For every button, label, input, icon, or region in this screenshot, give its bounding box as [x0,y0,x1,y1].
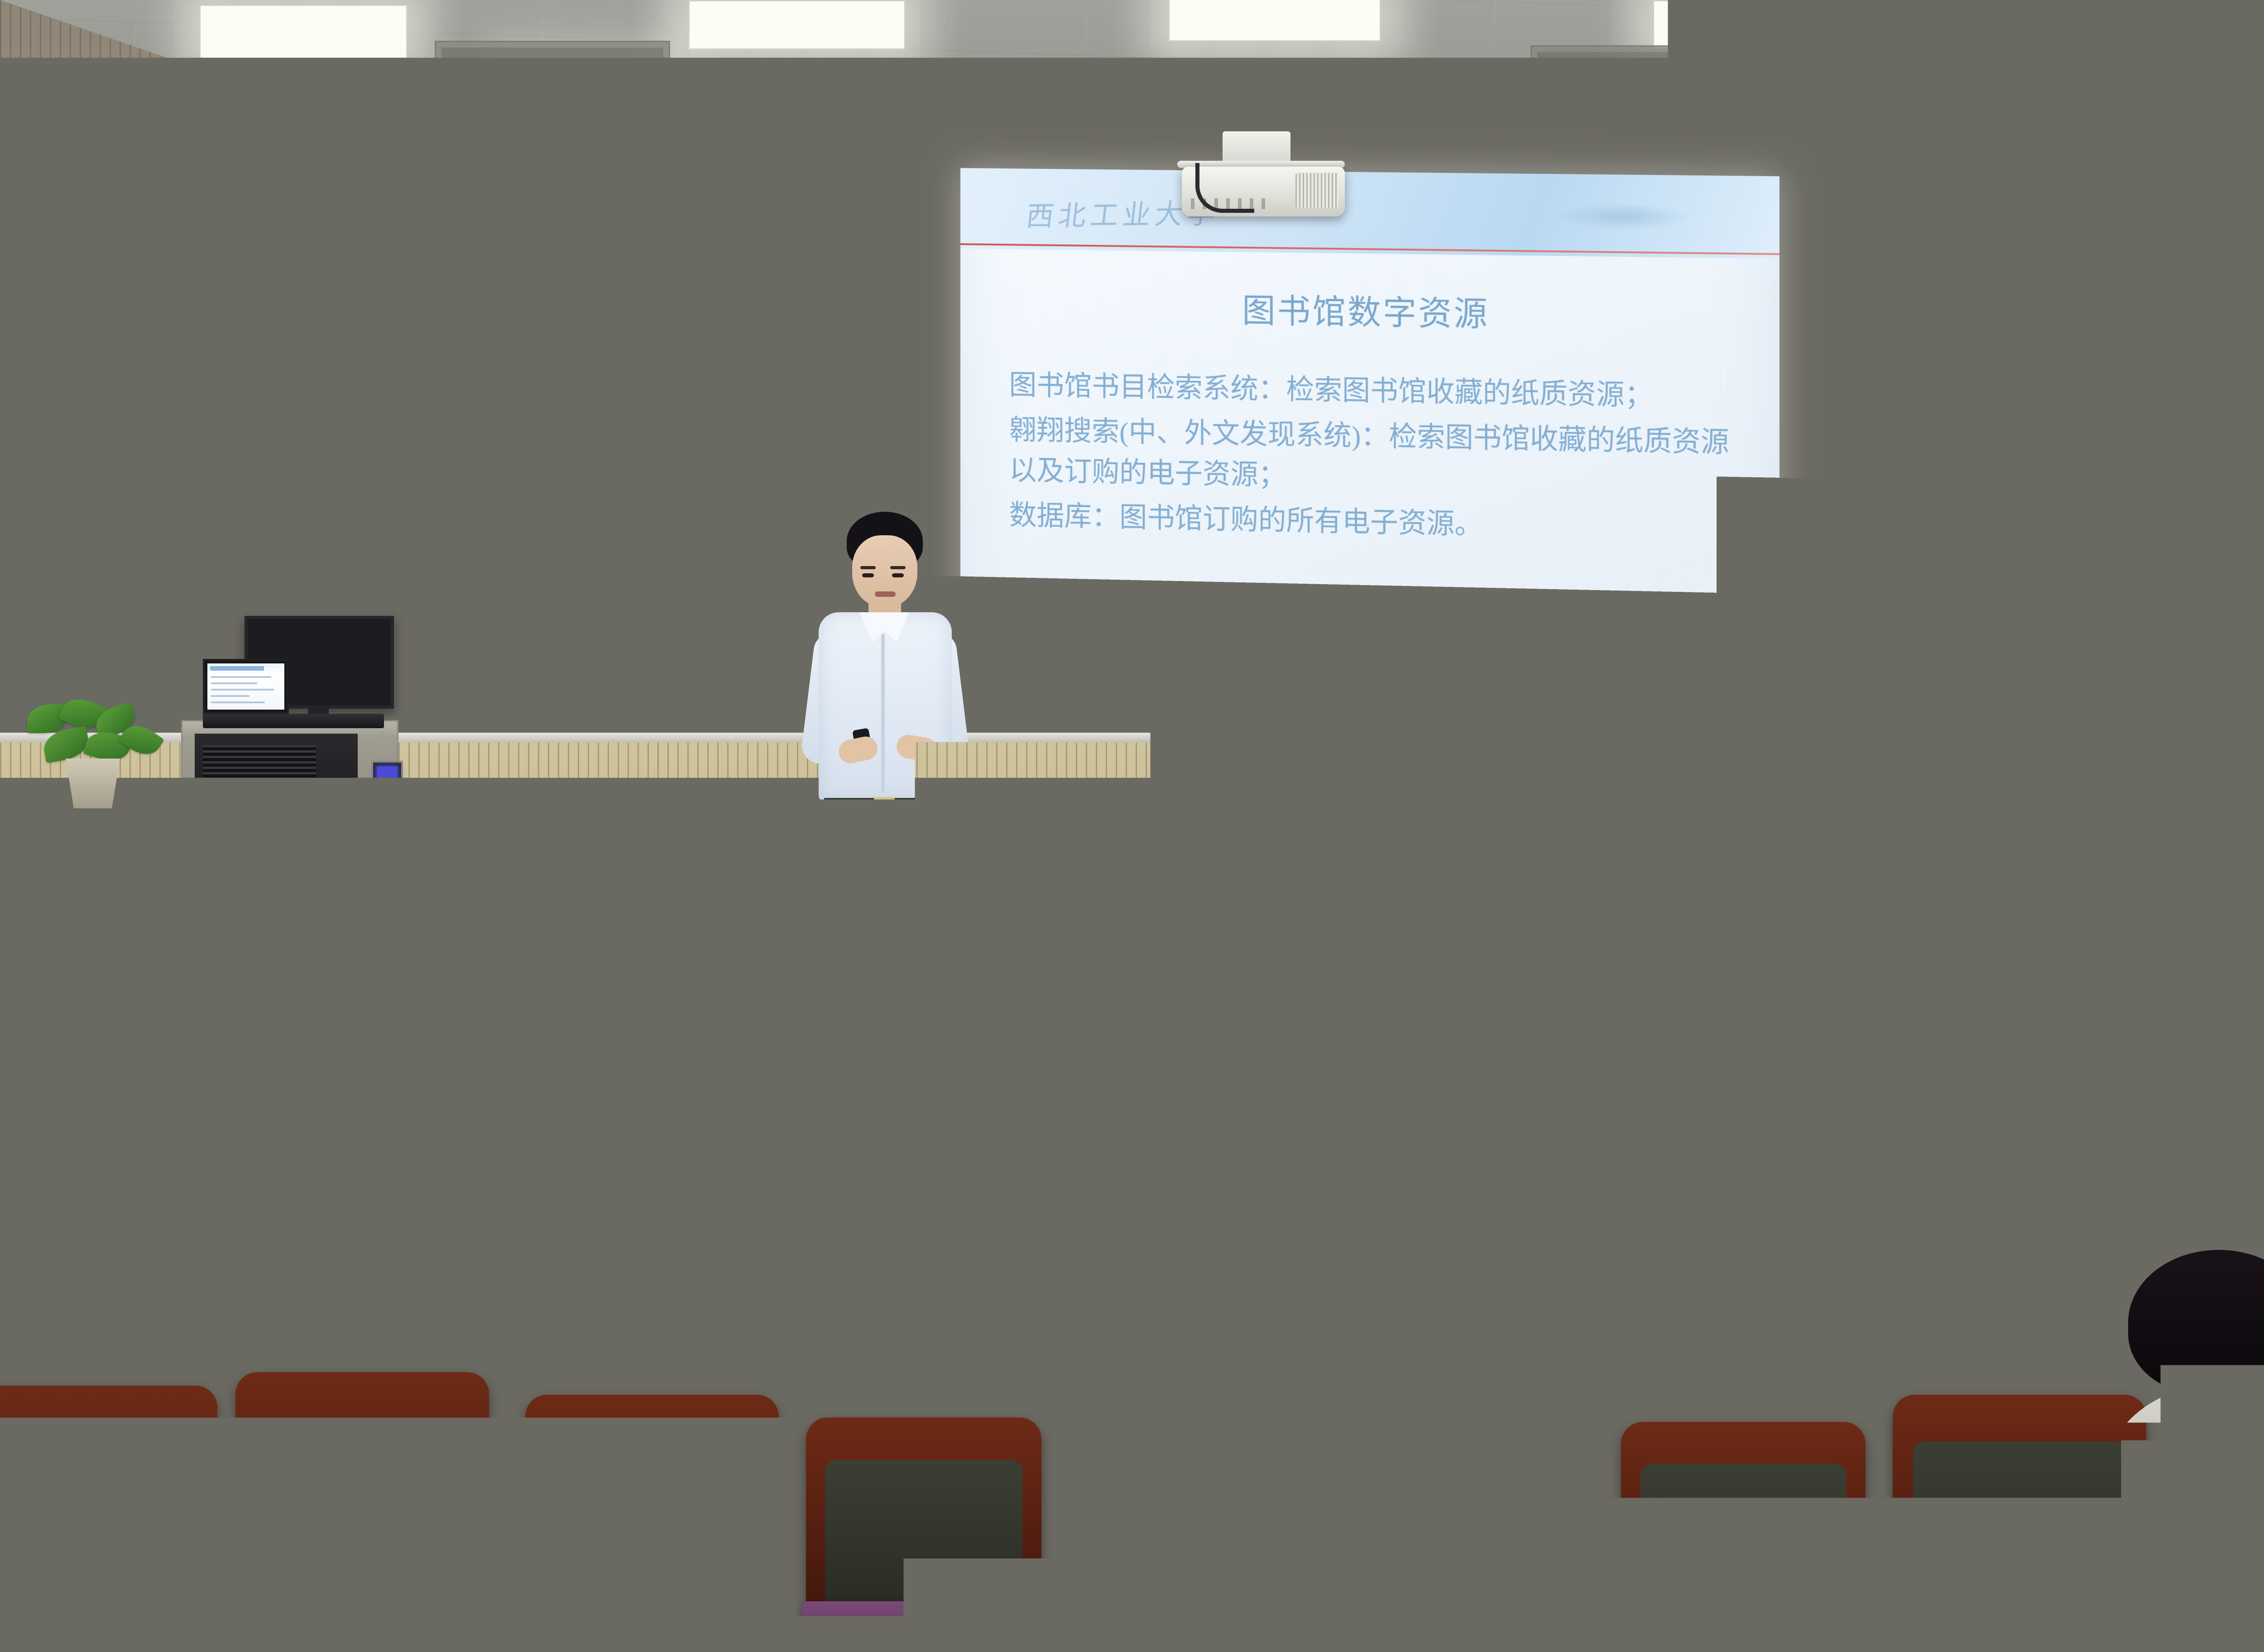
projector-mount-pole [1247,0,1264,136]
banner-subtitle: ——图书馆与QMES的初相识 [1819,579,2055,606]
potted-plant [2092,894,2241,1017]
desk-knob[interactable] [1576,1020,1588,1032]
potted-plant [18,700,168,817]
potted-plant [398,706,539,820]
banner-info-location: 讲座地点：伦敦玛丽女王大学工程学院报告厅 [1831,670,2043,704]
potted-plant [1372,1304,1567,1494]
audience-member [792,1386,964,1652]
projector-vent [1295,173,1338,208]
banner-right: 创新学科服务 共建一流学院系列讲座 ——图书馆与QMES的初相识 讲座时间：20… [1818,467,2057,1008]
slide-header-band: 西北工业大学 [960,168,1780,259]
slide-title: 图书馆数字资源 [960,280,1780,340]
ceiling-light-panel [199,5,408,59]
audience-member [1635,1372,1825,1652]
desk-knob[interactable] [213,1026,225,1038]
wall-speaker-left [167,161,293,342]
desk-knob[interactable] [933,1019,945,1031]
banner-slogan-1: 服务学生 [1819,799,2055,819]
speaker-bracket-left [113,245,172,255]
lecture-hall-scene: 西北工业大学 图书馆数字资源 图书馆书目检索系统：检索图书馆收藏的纸质资源； 翱… [0,0,2264,1652]
audience-member [1906,1336,2110,1652]
wall-display-left-base [0,502,118,517]
banner-info-time: 讲座时间：2018年5月10日 16:00—17:30 [546,637,758,656]
banner-info-speaker: 主 讲 人：图书馆信息咨询与发展研究部 刘俐 [546,654,758,688]
play-icon [44,280,58,292]
desk-knob[interactable] [1703,1132,1714,1144]
ceiling-light-panel [1653,0,1866,50]
presenter-leg-gap [866,879,872,965]
banner-slogan-1: 服务学生 [534,816,770,836]
presenter-trousers [827,807,944,965]
seat[interactable] [131,1055,281,1191]
ceiling-light-panel [1168,0,1381,42]
banner-info-location: 讲座地点：伦敦玛丽女王大学工程学院报告厅 [546,687,758,721]
banner-info-speaker: 主 讲 人：图书馆信息咨询与发展研究部 刘俐 [1831,637,2043,672]
banner-footer-2: 西北工业大学伦敦玛丽女王工程学院 [534,860,770,879]
ceiling-air-vent [435,41,670,122]
banner-left: 创新学科服务 共建一流学院系列讲座 ——图书馆与QMES的初相识 讲座时间：20… [532,485,771,1017]
banner-line-1: 创新学科服务 [534,498,770,534]
ceiling-light-panel [2146,5,2264,59]
banner-info-content-1: 讲座内容：介绍图书馆的数字资源类型、特点 [1831,703,2043,736]
slide-bullet-3: 数据库：图书馆订购的所有电子资源。 [1009,495,1743,551]
desk-knob[interactable] [584,1022,596,1033]
potted-plant [1349,1508,1558,1652]
potted-plant [1118,1214,1286,1363]
audience-member [516,1359,711,1652]
presenter-shirt [819,612,952,802]
banner-info-content-2: 及功用；深层次剖析如何利用图书馆 [546,754,758,770]
ceiling-light-panel [688,0,906,50]
potted-plant [987,1476,1204,1652]
slide-bullet-1: 图书馆书目检索系统：检索图书馆收藏的纸质资源； [1009,366,1743,418]
presenter [811,512,960,965]
banner-info-content-3: 提供的各色服务内容。 [1831,753,2043,769]
banner-footer-1: 单位：西北工业大学图书馆 [1819,827,2055,845]
slide-body: 图书馆书目检索系统：检索图书馆收藏的纸质资源； 翱翔搜索(中、外文发现系统)：检… [1009,366,1743,556]
wall-display-left[interactable] [0,195,113,503]
banner-line-1: 创新学科服务 [1819,481,2055,517]
presenter-shirt-placket [881,634,885,792]
banner-line-2: 共建一流学院系列讲座 [534,528,770,598]
banner-footer-1: 单位：西北工业大学图书馆 [534,844,770,863]
audience-member [254,1322,444,1652]
ceiling-air-vent [1530,45,1766,131]
presenter-face [852,535,917,608]
audience-member [2128,1250,2264,1585]
ceiling-air-vent [1938,41,2101,100]
banner-footer-2: 西北工业大学伦敦玛丽女王工程学院 [1819,843,2055,862]
banner-info-content-2: 及功用；深层次剖析如何利用图书馆 [1831,736,2043,753]
banner-subtitle: ——图书馆与QMES的初相识 [534,596,770,624]
banner-info-content-1: 讲座内容：介绍图书馆的数字资源类型、特点 [546,720,758,753]
seat[interactable] [1512,1064,1662,1200]
banner-line-2: 共建一流学院系列讲座 [1819,511,2055,581]
university-seal [208,811,262,864]
banner-info-time: 讲座时间：2018年5月10日 16:00—17:30 [1831,620,2043,639]
operator-laptop-screen [207,663,284,710]
audience-member [0,1309,172,1652]
projector-mount-head [1223,131,1290,163]
operator-keyboard[interactable] [203,714,384,728]
wall-speaker-right [2187,131,2264,322]
projection-screen: 西北工业大学 图书馆数字资源 图书馆书目检索系统：检索图书馆收藏的纸质资源； 翱… [960,168,1780,708]
podium [14,795,331,989]
audience-member [358,946,475,1164]
operator-laptop[interactable] [203,659,289,714]
slide-header-graphic [1554,202,1692,231]
banner-info-content-3: 提供的各色服务内容。 [546,769,758,787]
projector-cable [1195,163,1254,213]
slide-bullet-2: 翱翔搜索(中、外文发现系统)：检索图书馆收藏的纸质资源以及订购的电子资源； [1009,411,1743,505]
